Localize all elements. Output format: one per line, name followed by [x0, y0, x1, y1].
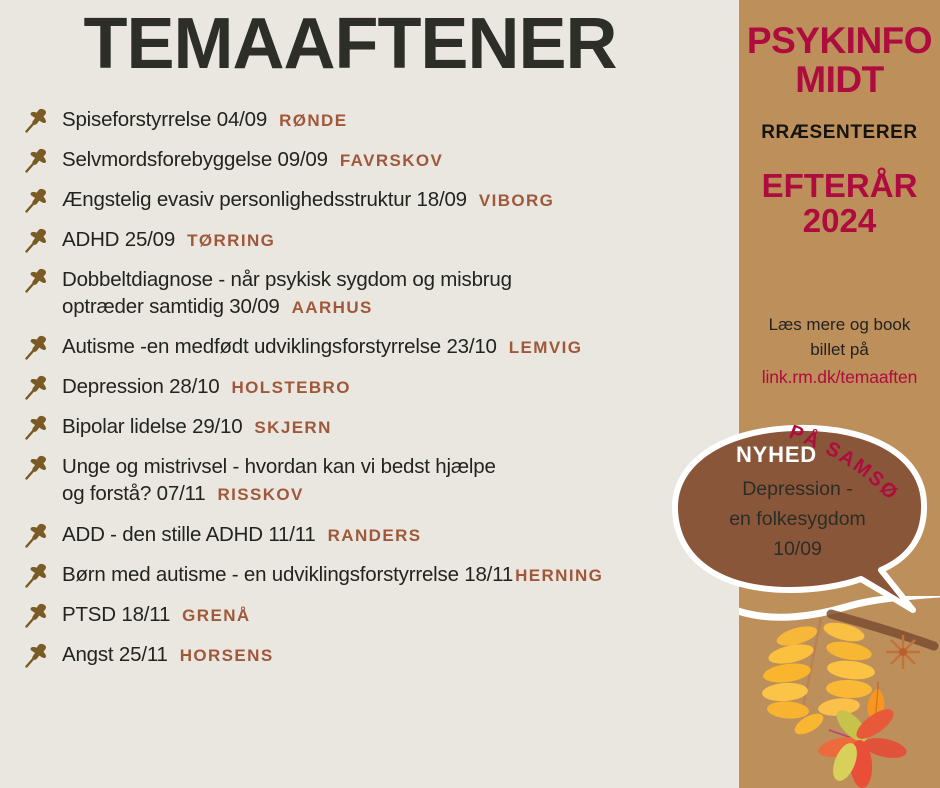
event-title: ADHD 25/09 [62, 228, 175, 251]
event-location: FAVRSKOV [340, 151, 443, 170]
pushpin-icon [24, 147, 54, 173]
pushpin-icon [24, 522, 54, 548]
presents-label: RRÆSENTERER [739, 122, 940, 144]
event-text: Ængstelig evasiv personlighedsstruktur 1… [62, 186, 554, 213]
booking-line1: Læs mere og book [769, 315, 911, 334]
event-row[interactable]: Angst 25/11HORSENS [24, 641, 739, 668]
event-title: Ængstelig evasiv personlighedsstruktur 1… [62, 188, 467, 211]
pushpin-icon [24, 267, 54, 293]
pushpin-icon [24, 522, 54, 548]
pushpin-icon [24, 414, 54, 440]
event-title-line2: og forstå? 07/11RISSKOV [62, 480, 496, 507]
pushpin-icon [24, 454, 54, 480]
event-text: Angst 25/11HORSENS [62, 641, 274, 668]
event-title: Angst 25/11 [62, 643, 168, 666]
event-text: ADHD 25/09TØRRING [62, 226, 275, 253]
event-location: SKJERN [254, 418, 331, 437]
bubble-text-block: NYHED Depression - en folkesygdom 10/09 [685, 442, 910, 565]
pushpin-icon [24, 374, 54, 400]
season-label: EFTERÅR [739, 168, 940, 204]
event-text: Spiseforstyrrelse 04/09RØNDE [62, 106, 347, 133]
event-location: AARHUS [292, 298, 373, 317]
event-text: ADD - den stille ADHD 11/11RANDERS [62, 521, 422, 548]
event-location: GRENÅ [182, 606, 250, 625]
pushpin-icon [24, 374, 54, 400]
bubble-event-text: Depression - en folkesygdom 10/09 [685, 474, 910, 565]
event-title-line2: optræder samtidig 30/09AARHUS [62, 293, 512, 320]
brand-name-line2: MIDT [739, 61, 940, 100]
pushpin-icon [24, 602, 54, 628]
pushpin-icon [24, 227, 54, 253]
bubble-line3: 10/09 [685, 534, 910, 564]
event-title: Depression 28/10 [62, 375, 220, 398]
event-location: RISSKOV [217, 485, 303, 504]
bubble-line2: en folkesygdom [685, 504, 910, 534]
poster-canvas: TEMAAFTENER Spiseforstyrrelse 04/09RØNDE… [0, 0, 940, 788]
booking-line2: billet på [810, 340, 869, 359]
event-location: TØRRING [187, 231, 275, 250]
event-row[interactable]: Børn med autisme - en udviklingsforstyrr… [24, 561, 739, 588]
pushpin-icon [24, 107, 54, 133]
event-list: Spiseforstyrrelse 04/09RØNDE Selvmordsfo… [24, 106, 739, 681]
event-location: VIBORG [479, 191, 554, 210]
news-speech-bubble: NYHED Depression - en folkesygdom 10/09 [655, 418, 940, 633]
event-row[interactable]: ADHD 25/09TØRRING [24, 226, 739, 253]
event-location: HERNING [515, 566, 603, 585]
event-text: Depression 28/10HOLSTEBRO [62, 373, 351, 400]
event-row[interactable]: Autisme -en medfødt udviklingsforstyrrel… [24, 333, 739, 360]
event-text: Dobbeltdiagnose - når psykisk sygdom og … [62, 266, 512, 320]
pushpin-icon [24, 227, 54, 253]
nyhed-badge-label: NYHED [685, 442, 868, 468]
event-row[interactable]: PTSD 18/11GRENÅ [24, 601, 739, 628]
pushpin-icon [24, 107, 54, 133]
event-title: Selvmordsforebyggelse 09/09 [62, 148, 328, 171]
pushpin-icon [24, 562, 54, 588]
event-row[interactable]: Spiseforstyrrelse 04/09RØNDE [24, 106, 739, 133]
event-title: Autisme -en medfødt udviklingsforstyrrel… [62, 335, 497, 358]
pushpin-icon [24, 562, 54, 588]
event-row[interactable]: Depression 28/10HOLSTEBRO [24, 373, 739, 400]
event-location: HOLSTEBRO [232, 378, 351, 397]
year-label: 2024 [739, 203, 940, 239]
brand-name-line1: PSYKINFO [739, 22, 940, 61]
booking-url-link[interactable]: link.rm.dk/temaaften [751, 365, 928, 390]
event-row[interactable]: Dobbeltdiagnose - når psykisk sygdom og … [24, 266, 739, 320]
pushpin-icon [24, 267, 54, 293]
event-row[interactable]: Ængstelig evasiv personlighedsstruktur 1… [24, 186, 739, 213]
pushpin-icon [24, 147, 54, 173]
event-title: Unge og mistrivsel - hvordan kan vi beds… [62, 455, 496, 478]
event-text: Unge og mistrivsel - hvordan kan vi beds… [62, 453, 496, 507]
event-title-line2-text: og forstå? 07/11 [62, 482, 205, 505]
event-text: PTSD 18/11GRENÅ [62, 601, 251, 628]
bubble-line1: Depression - [685, 474, 910, 504]
event-row[interactable]: ADD - den stille ADHD 11/11RANDERS [24, 521, 739, 548]
pushpin-icon [24, 642, 54, 668]
event-row[interactable]: Bipolar lidelse 29/10SKJERN [24, 413, 739, 440]
event-text: Autisme -en medfødt udviklingsforstyrrel… [62, 333, 582, 360]
pushpin-icon [24, 454, 54, 480]
event-location: RANDERS [328, 526, 422, 545]
event-row[interactable]: Selvmordsforebyggelse 09/09FAVRSKOV [24, 146, 739, 173]
sidebar-panel: PSYKINFO MIDT RRÆSENTERER EFTERÅR 2024 L… [739, 0, 940, 788]
pushpin-icon [24, 414, 54, 440]
event-text: Selvmordsforebyggelse 09/09FAVRSKOV [62, 146, 443, 173]
booking-info: Læs mere og book billet på link.rm.dk/te… [739, 313, 940, 391]
pushpin-icon [24, 187, 54, 213]
event-location: HORSENS [180, 646, 274, 665]
event-title: ADD - den stille ADHD 11/11 [62, 523, 316, 546]
event-text: Bipolar lidelse 29/10SKJERN [62, 413, 332, 440]
pushpin-icon [24, 187, 54, 213]
event-title: Bipolar lidelse 29/10 [62, 415, 242, 438]
pushpin-icon [24, 642, 54, 668]
event-row[interactable]: Unge og mistrivsel - hvordan kan vi beds… [24, 453, 739, 507]
pushpin-icon [24, 602, 54, 628]
page-title: TEMAAFTENER [0, 8, 700, 80]
pushpin-icon [24, 334, 54, 360]
event-text: Børn med autisme - en udviklingsforstyrr… [62, 561, 603, 588]
event-title: PTSD 18/11 [62, 603, 170, 626]
main-content-panel: TEMAAFTENER Spiseforstyrrelse 04/09RØNDE… [0, 0, 739, 788]
event-location: LEMVIG [509, 338, 583, 357]
event-location: RØNDE [279, 111, 347, 130]
event-title-line2-text: optræder samtidig 30/09 [62, 295, 280, 318]
pushpin-icon [24, 334, 54, 360]
event-title: Børn med autisme - en udviklingsforstyrr… [62, 563, 513, 586]
event-title: Spiseforstyrrelse 04/09 [62, 108, 267, 131]
event-title: Dobbeltdiagnose - når psykisk sygdom og … [62, 268, 512, 291]
